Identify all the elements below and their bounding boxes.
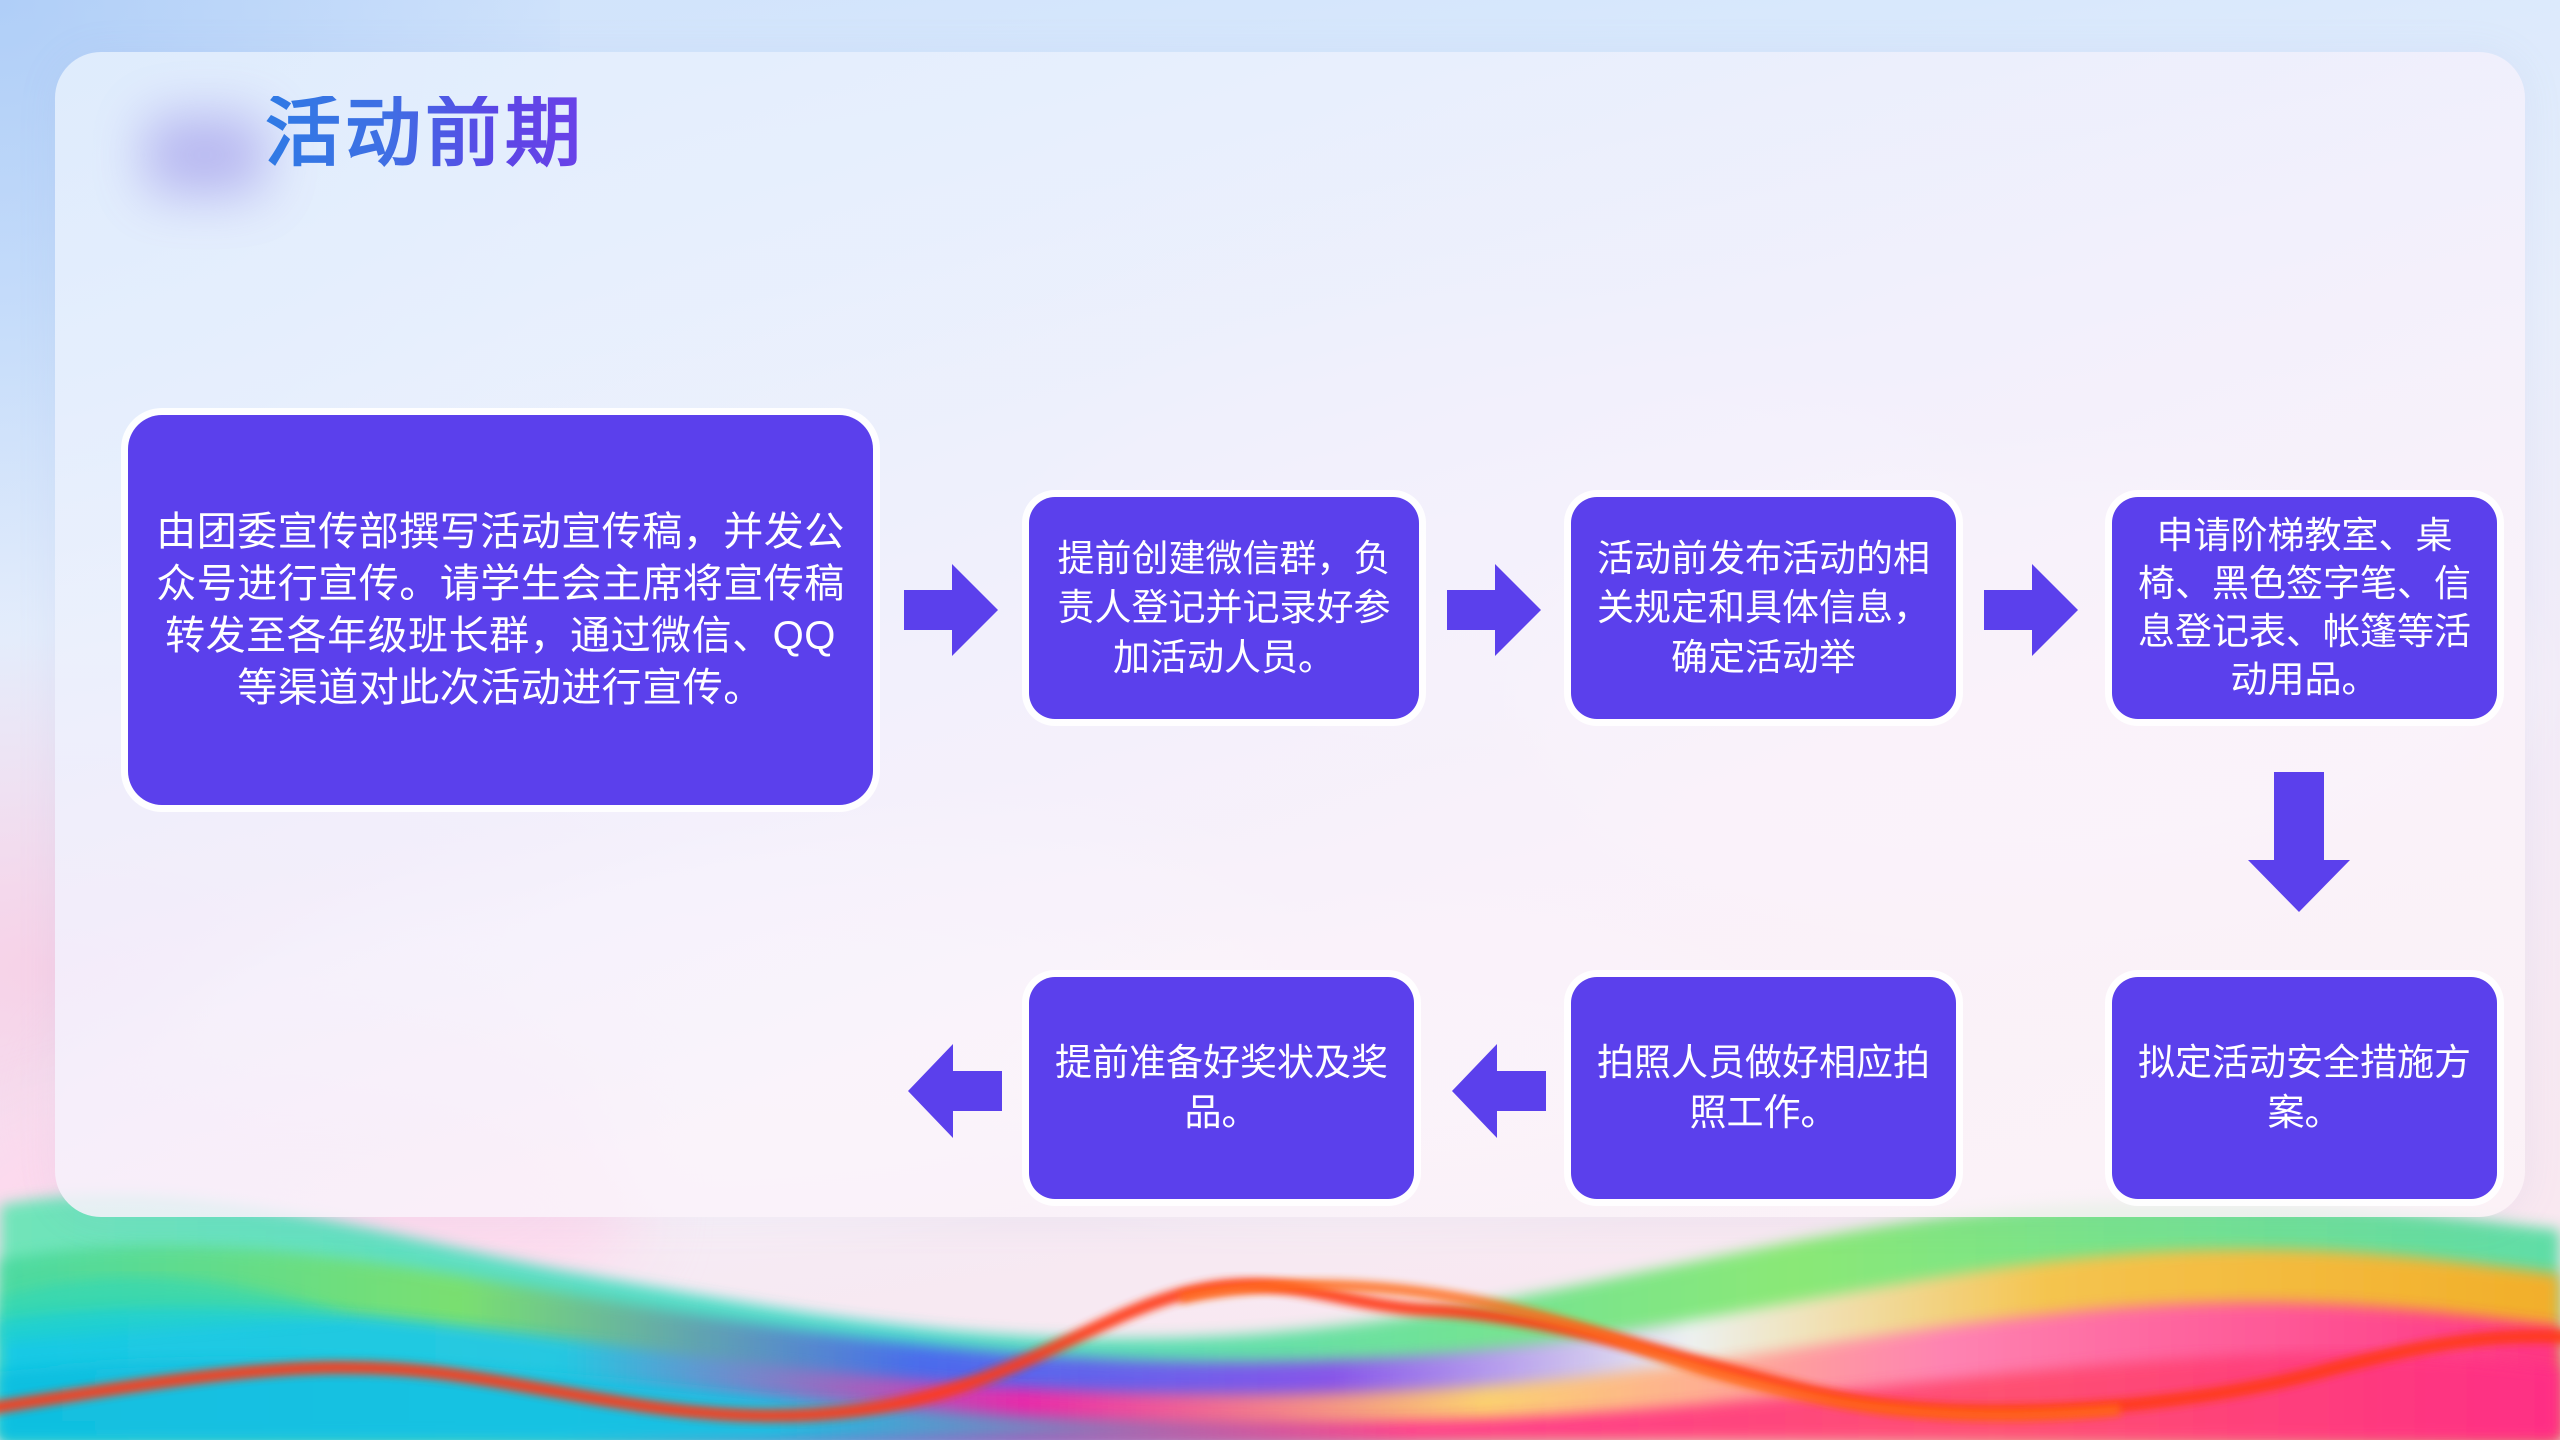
flow-box-step-2[interactable]: 提前创建微信群，负责人登记并记录好参加活动人员。	[1029, 497, 1419, 719]
flow-box-step-5[interactable]: 拟定活动安全措施方案。	[2112, 977, 2497, 1199]
flow-box-step-4-text: 申请阶梯教室、桌椅、黑色签字笔、信息登记表、帐篷等活动用品。	[2126, 512, 2483, 704]
arrow-right-icon	[904, 562, 998, 658]
flow-box-step-7-text: 提前准备好奖状及奖品。	[1043, 1038, 1400, 1137]
flow-box-step-2-text: 提前创建微信群，负责人登记并记录好参加活动人员。	[1043, 534, 1405, 683]
flow-box-step-1[interactable]: 由团委宣传部撰写活动宣传稿，并发公众号进行宣传。请学生会主席将宣传稿转发至各年级…	[128, 415, 873, 805]
flow-box-step-1-text: 由团委宣传部撰写活动宣传稿，并发公众号进行宣传。请学生会主席将宣传稿转发至各年级…	[150, 506, 851, 714]
flow-box-step-6-text: 拍照人员做好相应拍照工作。	[1585, 1038, 1942, 1137]
arrow-left-icon	[1450, 1042, 1546, 1140]
flow-box-step-5-text: 拟定活动安全措施方案。	[2126, 1038, 2483, 1137]
arrow-right-icon	[1447, 562, 1541, 658]
flow-box-step-4[interactable]: 申请阶梯教室、桌椅、黑色签字笔、信息登记表、帐篷等活动用品。	[2112, 497, 2497, 719]
flow-box-step-7[interactable]: 提前准备好奖状及奖品。	[1029, 977, 1414, 1199]
arrow-left-icon	[906, 1042, 1002, 1140]
flow-box-step-6[interactable]: 拍照人员做好相应拍照工作。	[1571, 977, 1956, 1199]
flow-box-step-3-text: 活动前发布活动的相关规定和具体信息，确定活动举	[1585, 534, 1942, 683]
arrow-down-icon	[2246, 772, 2352, 912]
page-title: 活动前期	[265, 96, 585, 172]
title-decoration-chip	[145, 115, 265, 195]
flow-box-step-3[interactable]: 活动前发布活动的相关规定和具体信息，确定活动举	[1571, 497, 1956, 719]
arrow-right-icon	[1984, 562, 2078, 658]
slide-canvas: 活动前期 由团委宣传部撰写活动宣传稿，并发公众号进行宣传。请学生会主席将宣传稿转…	[0, 0, 2560, 1440]
